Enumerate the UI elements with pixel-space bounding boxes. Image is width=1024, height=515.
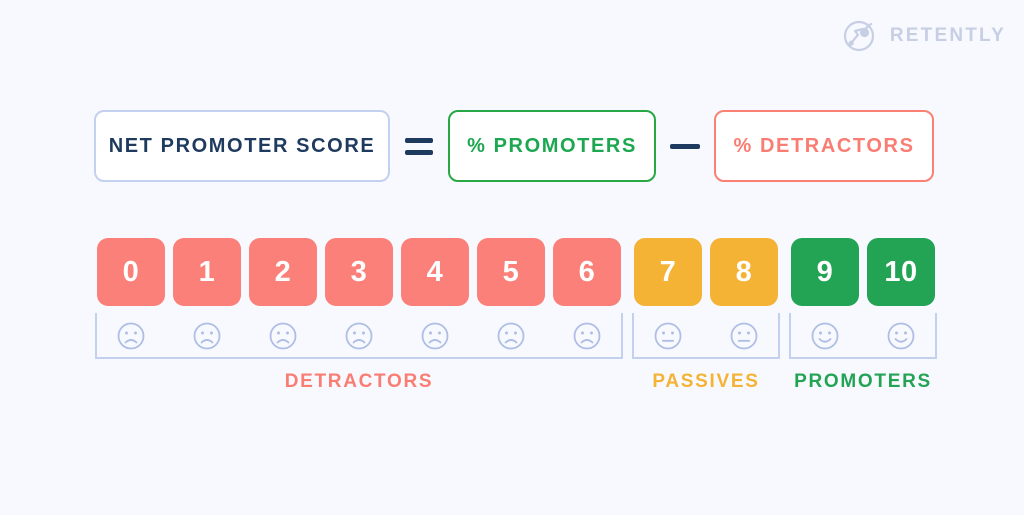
equals-icon (390, 138, 448, 155)
neutral-face-icon (634, 321, 702, 351)
score-tile-8[interactable]: 8 (710, 238, 778, 306)
nps-score-scale: 0 1 2 3 4 5 6 (95, 238, 937, 393)
detractors-bracket (95, 313, 623, 359)
score-tile-1[interactable]: 1 (173, 238, 241, 306)
score-tile-9[interactable]: 9 (791, 238, 859, 306)
brand-name: RETENTLY (890, 25, 1006, 47)
score-tile-7[interactable]: 7 (634, 238, 702, 306)
group-label-detractors: DETRACTORS (285, 371, 434, 393)
neutral-face-icon (710, 321, 778, 351)
sad-face-icon (249, 321, 317, 351)
score-group-promoters: 9 10 PROMOTERS (789, 238, 937, 393)
score-tile-0[interactable]: 0 (97, 238, 165, 306)
percent-promoters-box: % PROMOTERS (448, 110, 656, 182)
net-promoter-score-label: NET PROMOTER SCORE (109, 135, 376, 158)
smiley-face-icon (867, 321, 935, 351)
brand-logo: RETENTLY (840, 16, 1006, 56)
sad-face-icon (401, 321, 469, 351)
percent-detractors-box: % DETRACTORS (714, 110, 934, 182)
score-tile-5[interactable]: 5 (477, 238, 545, 306)
sad-face-icon (553, 321, 621, 351)
net-promoter-score-box: NET PROMOTER SCORE (94, 110, 390, 182)
sad-face-icon (97, 321, 165, 351)
score-tile-6[interactable]: 6 (553, 238, 621, 306)
promoters-bracket (789, 313, 937, 359)
minus-icon (656, 144, 714, 149)
group-label-promoters: PROMOTERS (794, 371, 932, 393)
percent-detractors-label: % DETRACTORS (733, 135, 914, 158)
sad-face-icon (325, 321, 393, 351)
score-tile-3[interactable]: 3 (325, 238, 393, 306)
passives-bracket (632, 313, 780, 359)
sad-face-icon (477, 321, 545, 351)
score-tile-10[interactable]: 10 (867, 238, 935, 306)
sad-face-icon (173, 321, 241, 351)
smiley-face-icon (791, 321, 859, 351)
passive-tiles: 7 8 (634, 238, 778, 306)
group-label-passives: PASSIVES (652, 371, 759, 393)
score-group-passives: 7 8 PASSIVES (632, 238, 780, 393)
percent-promoters-label: % PROMOTERS (467, 135, 637, 158)
score-tile-4[interactable]: 4 (401, 238, 469, 306)
nps-formula: NET PROMOTER SCORE % PROMOTERS % DETRACT… (94, 110, 934, 182)
score-group-detractors: 0 1 2 3 4 5 6 (95, 238, 623, 393)
equals-bar-bottom (405, 150, 433, 155)
minus-bar (670, 144, 700, 149)
equals-bar-top (405, 138, 433, 143)
promoter-tiles: 9 10 (791, 238, 935, 306)
score-tile-2[interactable]: 2 (249, 238, 317, 306)
detractor-tiles: 0 1 2 3 4 5 6 (97, 238, 621, 306)
retently-logo-icon (840, 16, 880, 56)
